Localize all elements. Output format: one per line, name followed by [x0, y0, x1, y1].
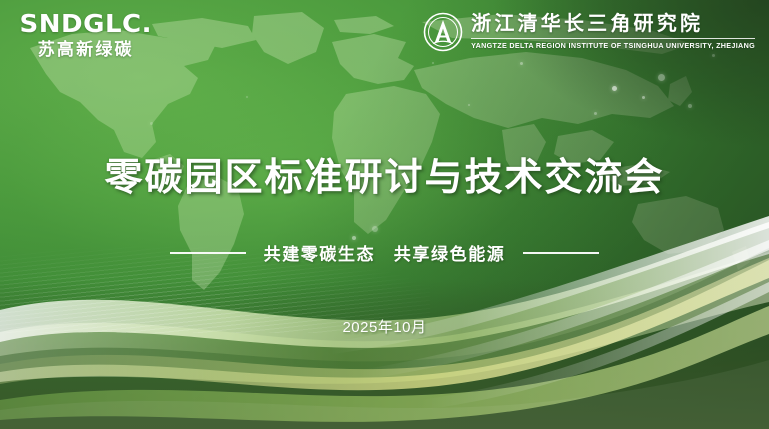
subtitle-rule-right [523, 252, 599, 254]
subtitle-rule-left [170, 252, 246, 254]
sndglc-logo: SNDGLC. 苏高新绿碳 [22, 11, 149, 58]
sndglc-chinese-name: 苏高新绿碳 [38, 41, 134, 58]
subtitle-text: 共建零碳生态 共享绿色能源 [264, 240, 506, 265]
yangtze-delta-institute-logo: 浙江清华长三角研究院 YANGTZE DELTA REGION INSTITUT… [423, 12, 755, 52]
institute-chinese-name: 浙江清华长三角研究院 [471, 14, 755, 34]
event-date: 2025年10月 [0, 316, 769, 337]
sndglc-wordmark: SNDGLC. [19, 11, 152, 36]
subtitle-row: 共建零碳生态 共享绿色能源 [0, 240, 769, 265]
title-slide: SNDGLC. 苏高新绿碳 浙江清华长三角研究院 YANGTZE DELTA R… [0, 0, 769, 429]
page-title: 零碳园区标准研讨与技术交流会 [0, 146, 769, 201]
institute-english-name: YANGTZE DELTA REGION INSTITUTE OF TSINGH… [471, 38, 755, 49]
circular-seal-icon [423, 12, 463, 52]
